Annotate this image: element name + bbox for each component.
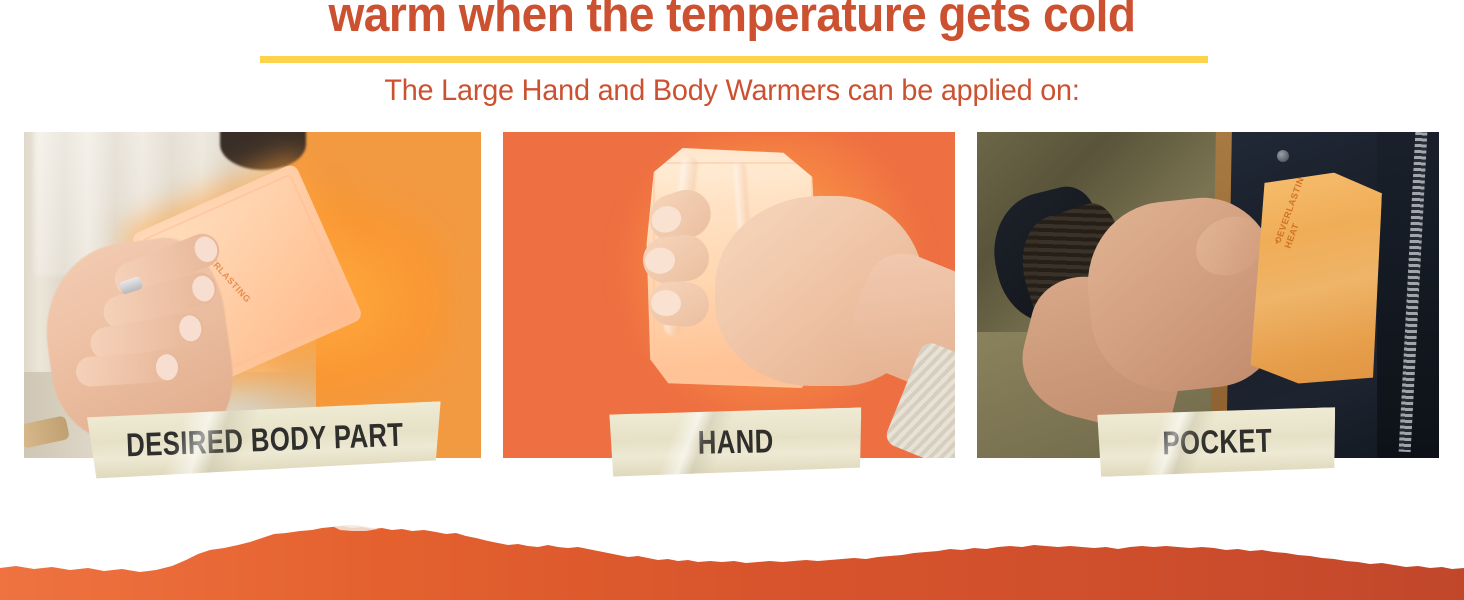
torn-paper-footer xyxy=(0,500,1464,600)
infographic-canvas: warm when the temperature gets cold The … xyxy=(0,0,1464,600)
fingernail xyxy=(155,354,179,381)
panel-label-text: DESIRED BODY PART xyxy=(126,416,405,465)
fingernail xyxy=(648,202,685,236)
panel-hand[interactable] xyxy=(503,132,955,458)
panel-label-text: HAND xyxy=(698,422,775,462)
label-tape-hand: HAND xyxy=(609,407,862,476)
label-tape-pocket: POCKET xyxy=(1097,407,1336,477)
snap-button xyxy=(1277,150,1289,162)
torn-edge-shape xyxy=(0,500,1464,600)
page-headline: warm when the temperature gets cold xyxy=(44,0,1420,44)
page-subheadline: The Large Hand and Body Warmers can be a… xyxy=(29,74,1434,108)
panel-label-text: POCKET xyxy=(1162,422,1272,463)
fingernail xyxy=(177,314,203,343)
panel-pocket[interactable]: ⟲EVERLASTING HEAT xyxy=(977,132,1439,458)
fingernail xyxy=(644,246,677,275)
fingernail xyxy=(650,289,682,317)
finger-knuckle xyxy=(648,280,711,328)
hand-warmer-product: ⟲EVERLASTING HEAT xyxy=(1247,170,1382,386)
headline-underline-rule xyxy=(260,56,1208,63)
